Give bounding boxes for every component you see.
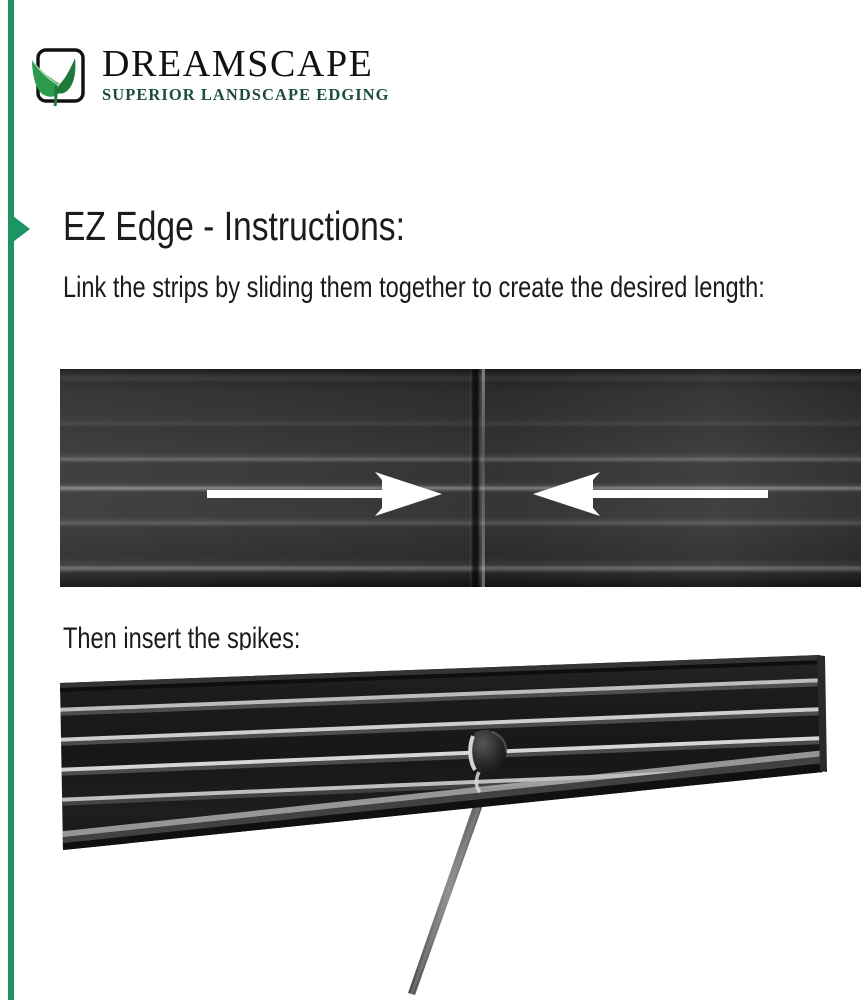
brand-wordmark: DREAMSCAPE SUPERIOR LANDSCAPE EDGING — [102, 42, 442, 105]
right-triangle-pointer-icon — [13, 216, 30, 242]
arrow-left-icon — [533, 472, 768, 516]
edging-strip — [55, 650, 865, 870]
brand-tagline: SUPERIOR LANDSCAPE EDGING — [102, 85, 442, 105]
page-title: EZ Edge - Instructions: — [63, 203, 405, 249]
two-green-leaves-in-rounded-square-icon — [30, 46, 86, 108]
arrow-right-icon — [207, 472, 442, 516]
step-link-strips-text: Link the strips by sliding them together… — [63, 267, 799, 309]
left-accent-rail — [8, 0, 14, 1000]
edging-strip-with-spike-illustration — [55, 650, 865, 1000]
photo-insert-spike — [55, 650, 865, 1000]
photo-link-strips — [60, 369, 861, 587]
strip-joint-edge-highlight — [482, 369, 485, 587]
brand-name: DREAMSCAPE — [102, 42, 442, 86]
